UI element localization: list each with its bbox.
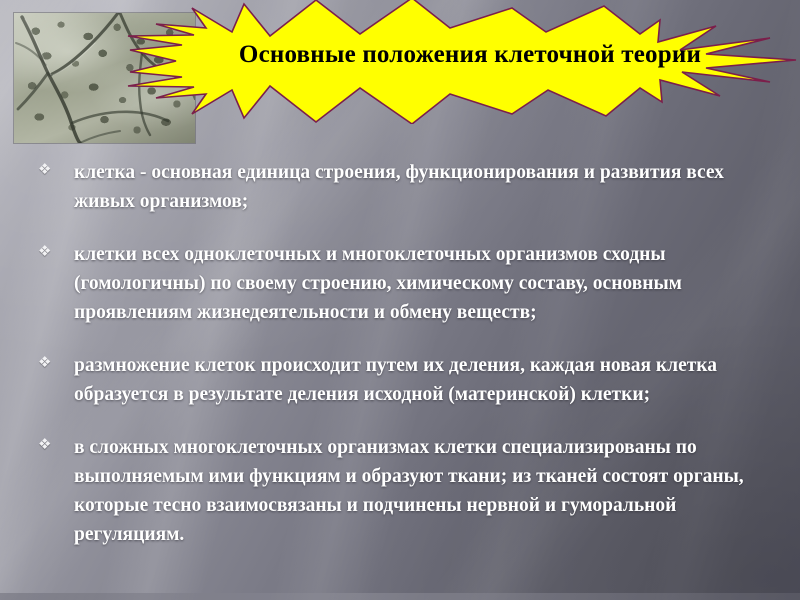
page-title: Основные положения клеточной теории <box>210 40 730 70</box>
list-item-text: клетки всех одноклеточных и многоклеточн… <box>74 240 780 327</box>
diamond-bullet-icon: ❖ <box>38 433 74 452</box>
background-bottom-edge <box>0 593 800 600</box>
diamond-bullet-icon: ❖ <box>38 158 74 177</box>
list-item-text: в сложных многоклеточных организмах клет… <box>74 433 780 549</box>
diamond-bullet-icon: ❖ <box>38 351 74 370</box>
list-item: ❖ размножение клеток происходит путем их… <box>38 351 780 409</box>
diamond-bullet-icon: ❖ <box>38 240 74 259</box>
list-item-text: размножение клеток происходит путем их д… <box>74 351 780 409</box>
presentation-slide: Основные положения клеточной теории ❖ кл… <box>0 0 800 600</box>
list-item: ❖ в сложных многоклеточных организмах кл… <box>38 433 780 549</box>
list-item-text: клетка - основная единица строения, функ… <box>74 158 780 216</box>
list-item: ❖ клетки всех одноклеточных и многоклето… <box>38 240 780 327</box>
theory-statements-list: ❖ клетка - основная единица строения, фу… <box>38 158 780 549</box>
list-item: ❖ клетка - основная единица строения, фу… <box>38 158 780 216</box>
title-starburst-banner: Основные положения клеточной теории <box>120 0 800 124</box>
